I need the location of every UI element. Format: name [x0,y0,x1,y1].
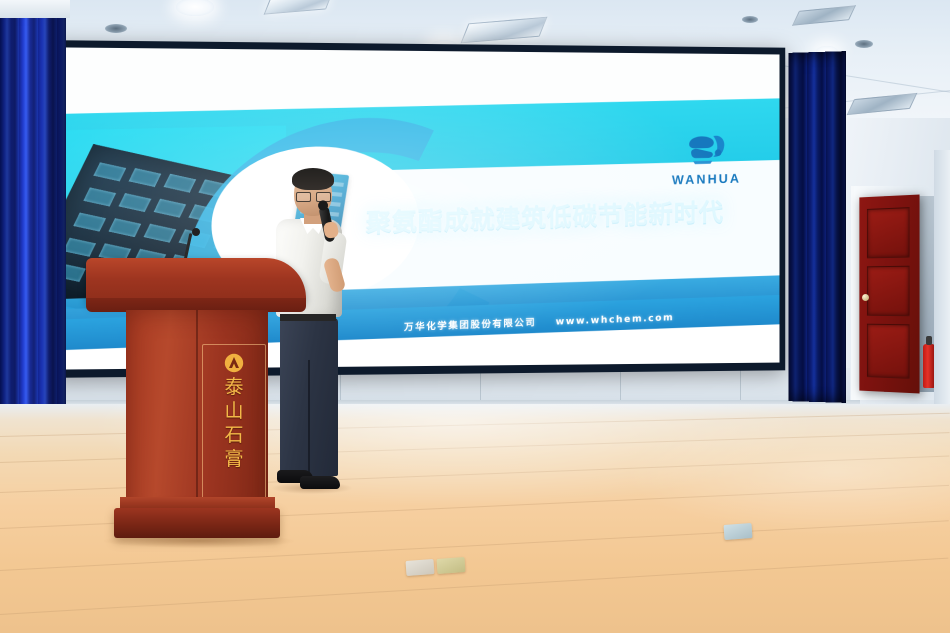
podium-seam [196,310,198,522]
taishan-mountain-icon [224,353,244,373]
ceiling-speaker [855,40,873,48]
blue-velvet-curtain-left [0,0,66,452]
floor-socket-plate [437,557,466,574]
plaque-char: 山 [224,402,243,421]
navy-velvet-curtain-right [788,51,846,403]
wanhua-logo-text: WANHUA [660,170,753,187]
ceiling-speaker [105,24,127,33]
wanhua-logo: WANHUA [660,131,753,187]
curtain-rod [0,0,70,18]
speaker-shoe [300,476,340,489]
eyeglasses-icon [296,192,330,200]
plaque-char: 泰 [224,378,243,397]
speaker-hair [292,168,334,190]
wall-corner [934,150,950,412]
plaque-char: 膏 [224,450,243,469]
gooseneck-microphone [192,228,200,236]
wanhua-swirl-mark [681,132,731,171]
floor-socket-plate [406,559,435,576]
floor-socket-plate [724,523,753,540]
trouser-seam [308,360,310,476]
podium-base [114,508,280,538]
plaque-char: 石 [224,426,243,445]
ceiling-speaker [742,16,758,23]
door-handle[interactable] [862,294,869,301]
speaker-belt [280,314,336,321]
podium-plaque: 泰 山 石 膏 [202,344,266,506]
red-wooden-door[interactable] [859,195,919,394]
presentation-photo: WANHUA 聚氨酯成就建筑低碳节能新时代 万华化学集团股份有限公司 www.w… [0,0,950,633]
